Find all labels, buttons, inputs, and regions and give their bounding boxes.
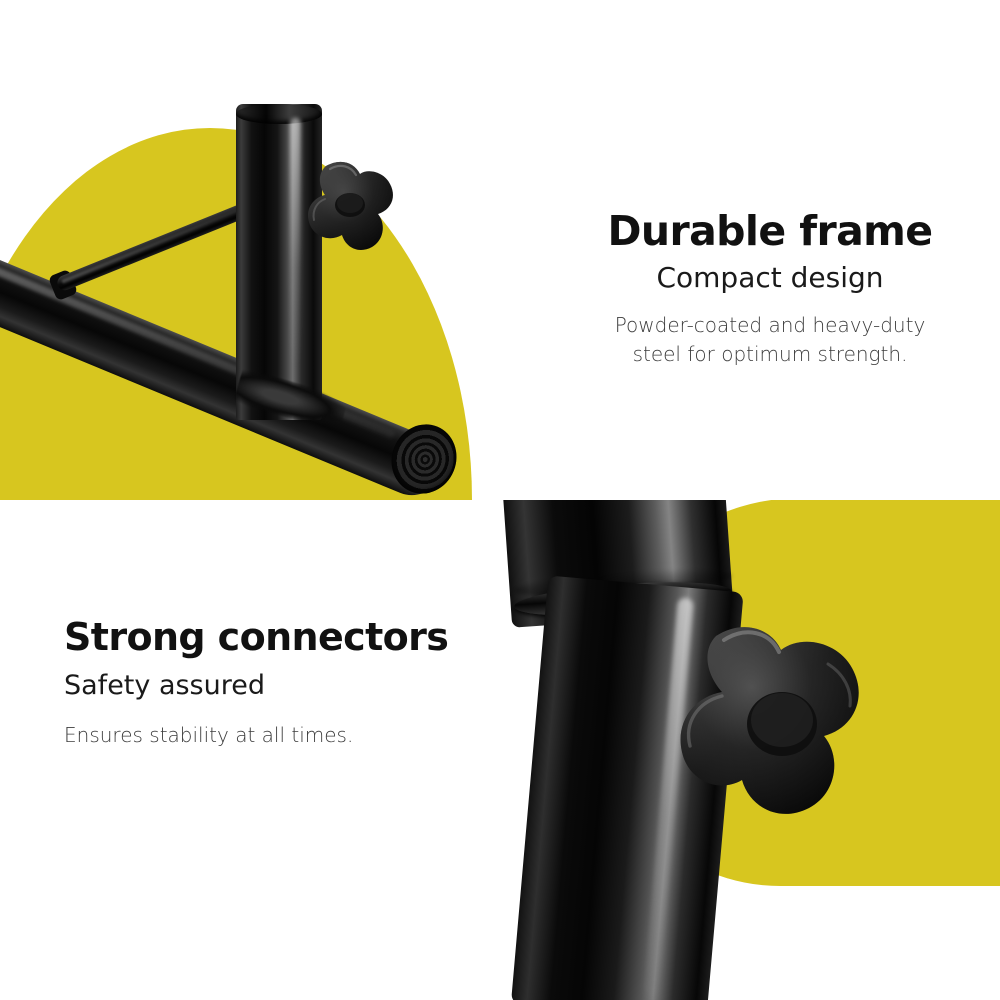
strong-connectors-description-line1: Ensures stability at all times. bbox=[64, 721, 494, 749]
frame-joint-photo bbox=[0, 0, 500, 500]
durable-frame-description-line2: steel for optimum strength. bbox=[560, 340, 980, 368]
connector-knob-photo bbox=[500, 500, 1000, 1000]
feature-panel-canvas: Durable frame Compact design Powder-coat… bbox=[0, 0, 1000, 1000]
durable-frame-subheading: Compact design bbox=[560, 262, 980, 294]
strong-connectors-heading: Strong connectors bbox=[64, 618, 494, 658]
durable-frame-copy: Durable frame Compact design Powder-coat… bbox=[560, 210, 980, 368]
strong-connectors-subheading: Safety assured bbox=[64, 670, 494, 701]
durable-frame-description-line1: Powder-coated and heavy-duty bbox=[560, 311, 980, 339]
frame-upright-rim bbox=[236, 104, 322, 124]
strong-connectors-copy: Strong connectors Safety assured Ensures… bbox=[64, 618, 494, 749]
three-lobe-star-knob-icon-large bbox=[678, 618, 898, 838]
three-lobe-star-knob-icon bbox=[296, 158, 408, 262]
durable-frame-heading: Durable frame bbox=[560, 210, 980, 253]
